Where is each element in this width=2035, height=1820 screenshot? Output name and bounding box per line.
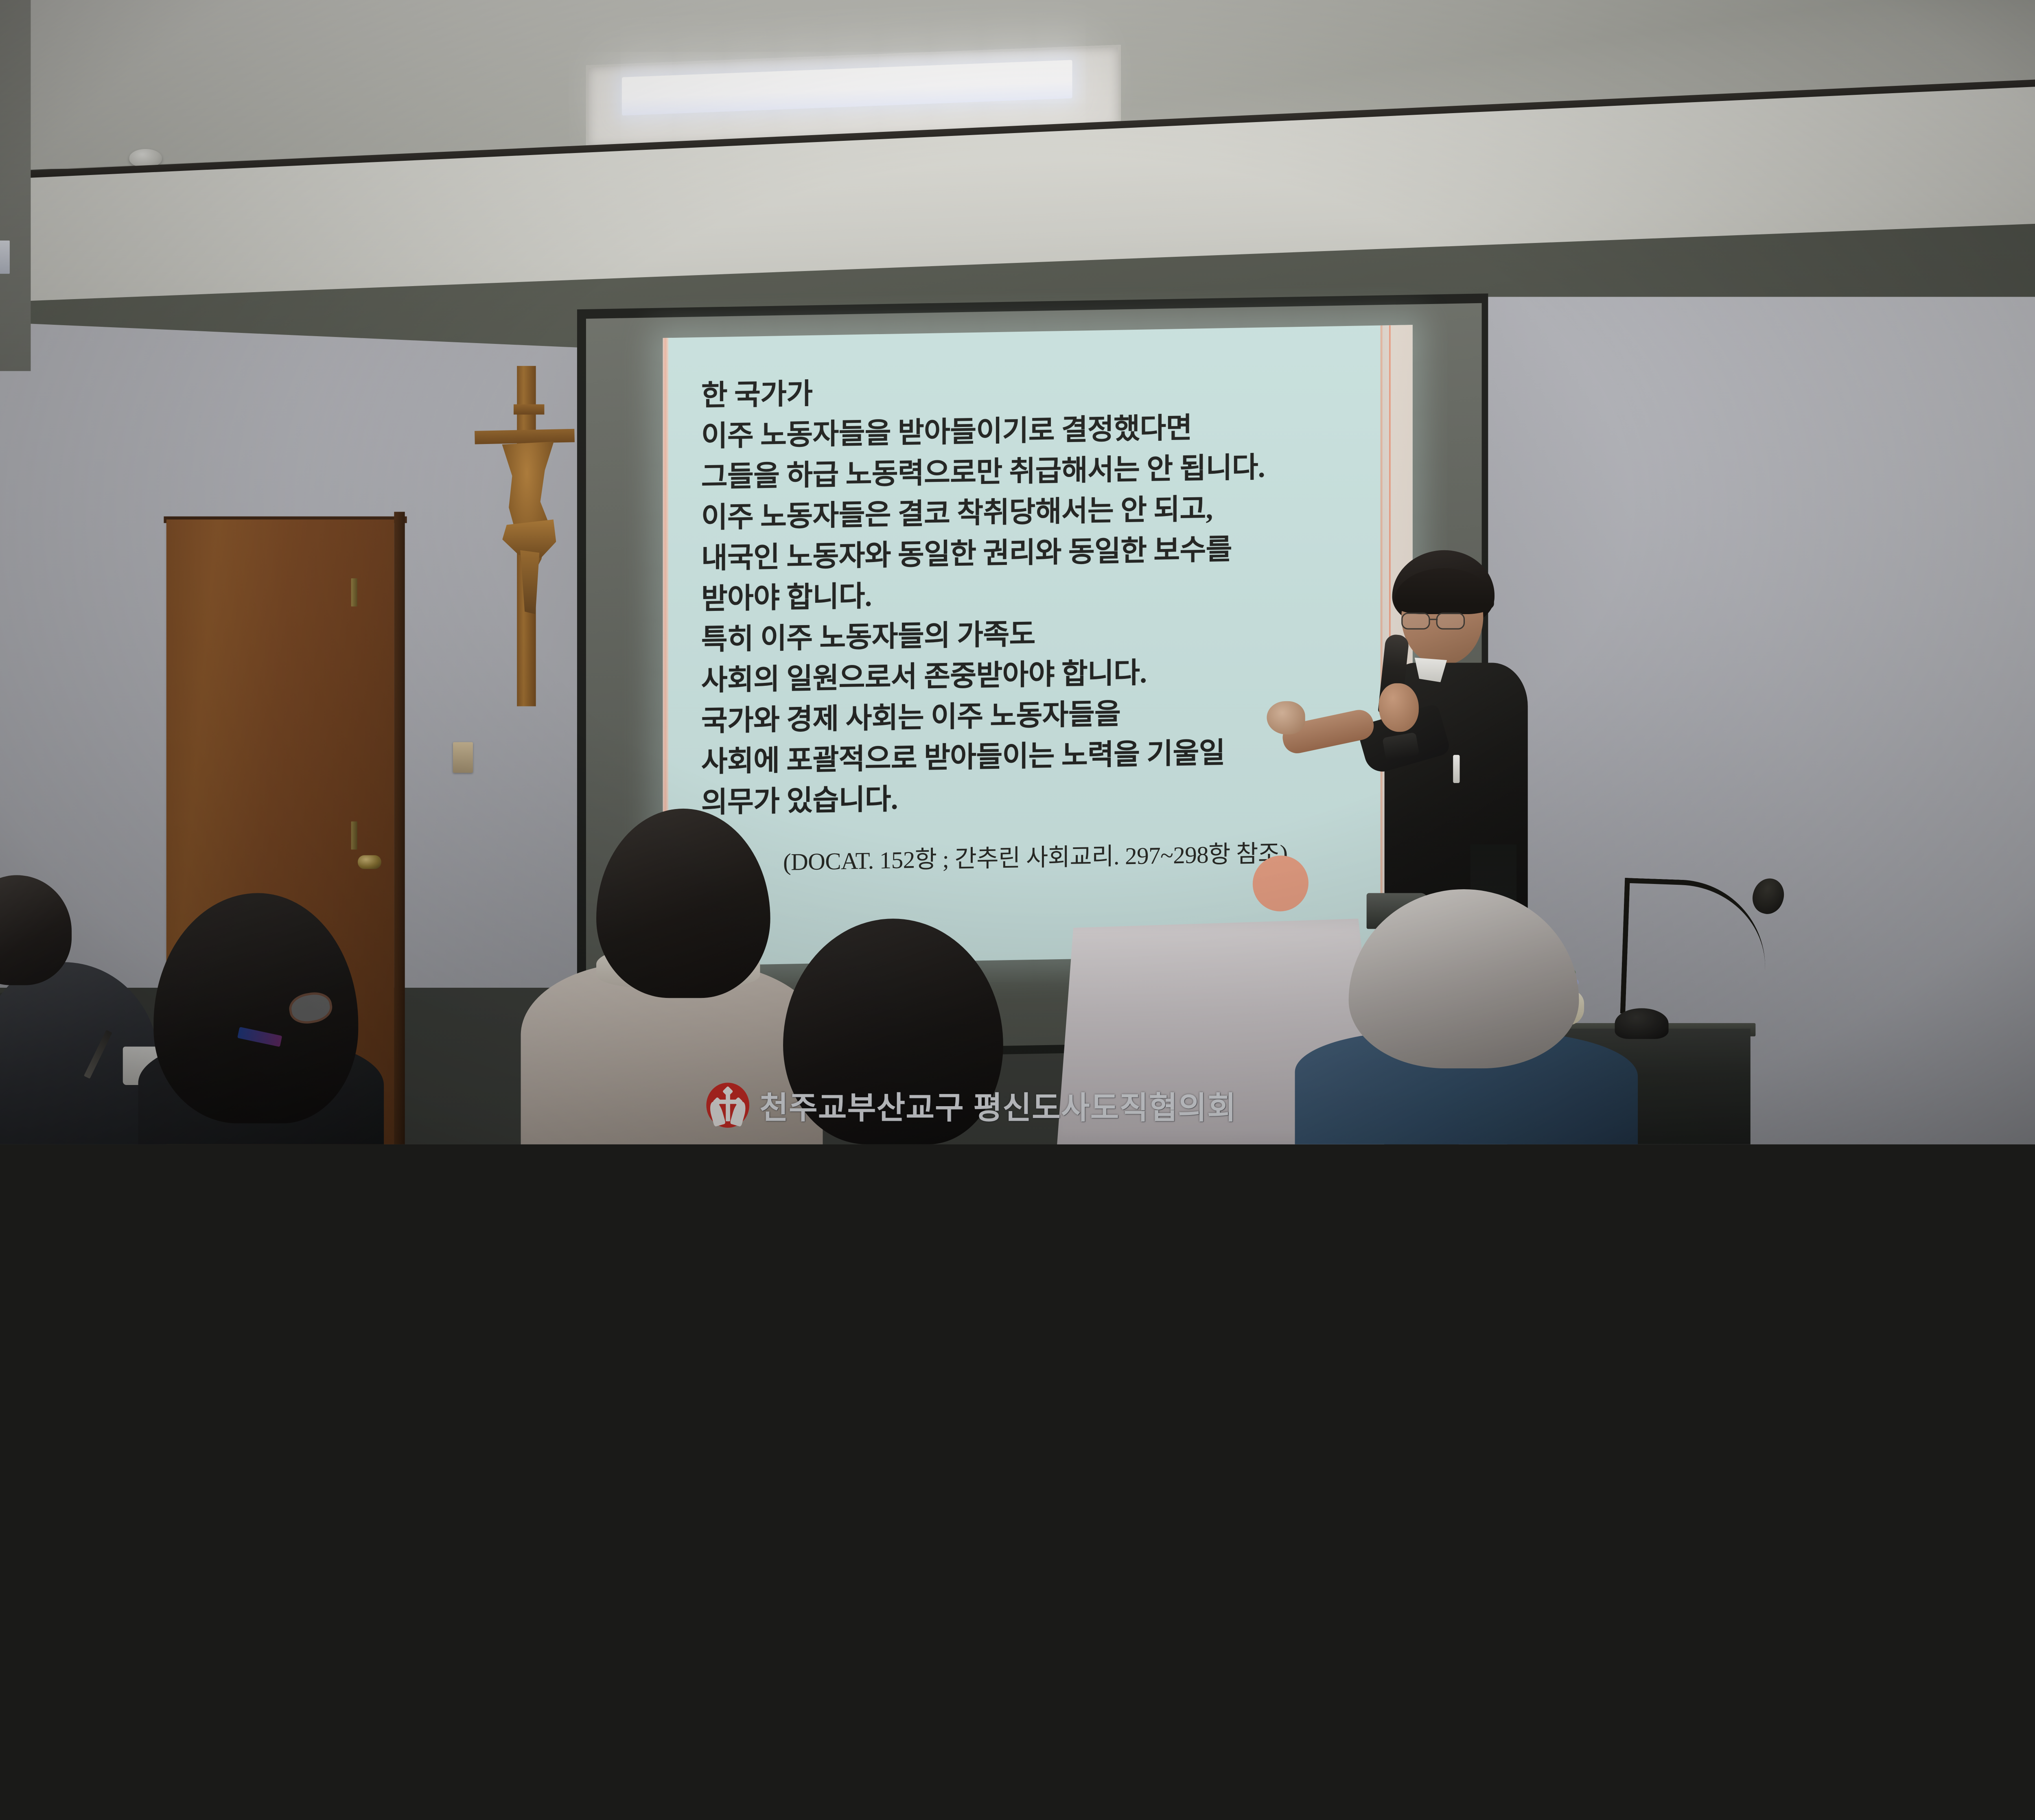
crucifix-inri-plaque [514, 404, 544, 414]
eyeglass-lens-right [1436, 612, 1465, 629]
crucifix-crossbeam [475, 429, 575, 444]
wall-fixture [0, 241, 10, 274]
slide-citation: (DOCAT. 152항 ; 간추린 사회교리. 297~298항 참조) [783, 834, 1287, 877]
door-knob-icon[interactable] [358, 855, 381, 869]
door-frame [394, 512, 405, 1144]
logo-hand-right [730, 1100, 748, 1127]
light-switch-plate[interactable] [453, 742, 473, 772]
slide-accent-circle [1253, 855, 1309, 912]
watermark-text: 천주교부산교구 평신도사도직협의회 [759, 1083, 1236, 1128]
door-hinge-icon [351, 821, 357, 849]
lecture-hall-photo: 한 국가가 이주 노동자들을 받아들이기로 결정했다면 그들을 하급 노동력으로… [0, 0, 2035, 1144]
eyeglasses-icon [1401, 612, 1470, 630]
logo-hand-left [708, 1100, 726, 1127]
logo-cross-vertical [726, 1090, 730, 1121]
wall-crucifix [470, 366, 577, 706]
projected-slide: 한 국가가 이주 노동자들을 받아들이기로 결정했다면 그들을 하급 노동력으로… [663, 325, 1413, 966]
door-hinge-icon [351, 578, 357, 606]
diocese-cross-hands-logo-icon [706, 1083, 749, 1128]
speaker-mic-hand [1379, 683, 1419, 732]
gooseneck-microphone-base [1615, 1008, 1669, 1039]
far-left-wall-edge [0, 0, 31, 371]
eyeglass-lens-left [1401, 612, 1430, 629]
slide-body-text: 한 국가가 이주 노동자들을 받아들이기로 결정했다면 그들을 하급 노동력으로… [701, 364, 1364, 823]
pocket-pen-icon [1453, 755, 1460, 783]
watermark: 천주교부산교구 평신도사도직협의회 [706, 1083, 1236, 1128]
speaker-pointing-hand [1267, 701, 1305, 735]
